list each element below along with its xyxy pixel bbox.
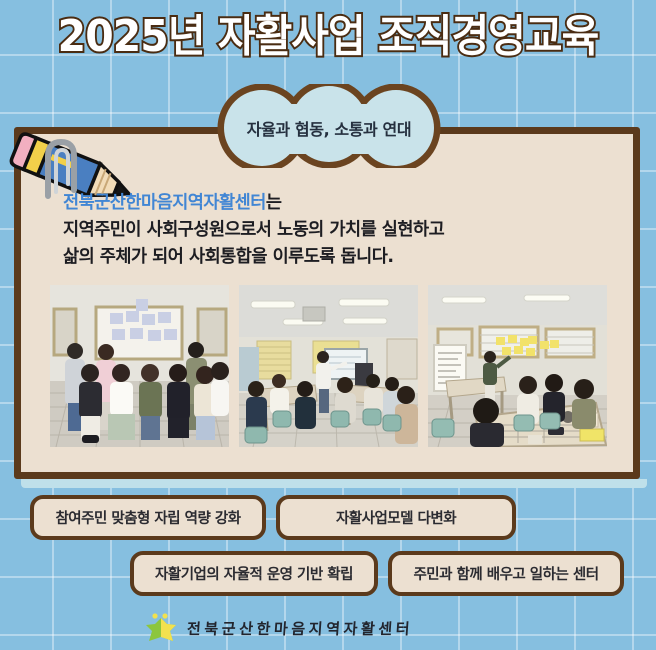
page-title: 2025년 자활사업 조직경영교육: [23, 8, 633, 66]
lecture-photo-classroom: [239, 285, 418, 447]
tag-chip-0[interactable]: 참여주민 맞춤형 자립 역량 강화: [30, 495, 266, 540]
org-suffix-text: 는: [266, 193, 282, 213]
panel-bottom-edge: [21, 479, 647, 488]
footer-center-name: 전북군산한마음지역자활센터: [186, 618, 414, 639]
body-line-1: 전북군산한마음지역자활센터는: [63, 190, 603, 217]
body-line-2: 지역주민이 사회구성원으로서 노동의 가치를 실현하고: [63, 217, 603, 244]
photo-strip: [50, 285, 608, 447]
workshop-photo-sticky-notes: [428, 285, 607, 447]
org-name-text: 전북군산한마음지역자활센터: [63, 193, 266, 213]
footer: 전북군산한마음지역자활센터: [144, 611, 413, 645]
tag-chip-2[interactable]: 자활기업의 자율적 운영 기반 확립: [130, 551, 378, 596]
body-text-block: 전북군산한마음지역자활센터는 지역주민이 사회구성원으로서 노동의 가치를 실현…: [63, 190, 603, 271]
star-flower-logo-icon: [144, 612, 178, 644]
tag-chip-3[interactable]: 주민과 함께 배우고 일하는 센터: [388, 551, 624, 596]
poster-canvas: 2025년 자활사업 조직경영교육 자율과 협동, 소통과 연대: [0, 0, 656, 650]
slogan-text: 자율과 협동, 소통과 연대: [196, 84, 462, 168]
group-photo-participants: [50, 285, 229, 447]
body-line-3: 삶의 주체가 되어 사회통합을 이루도록 돕니다.: [63, 244, 603, 271]
tag-chip-1[interactable]: 자활사업모델 다변화: [276, 495, 516, 540]
